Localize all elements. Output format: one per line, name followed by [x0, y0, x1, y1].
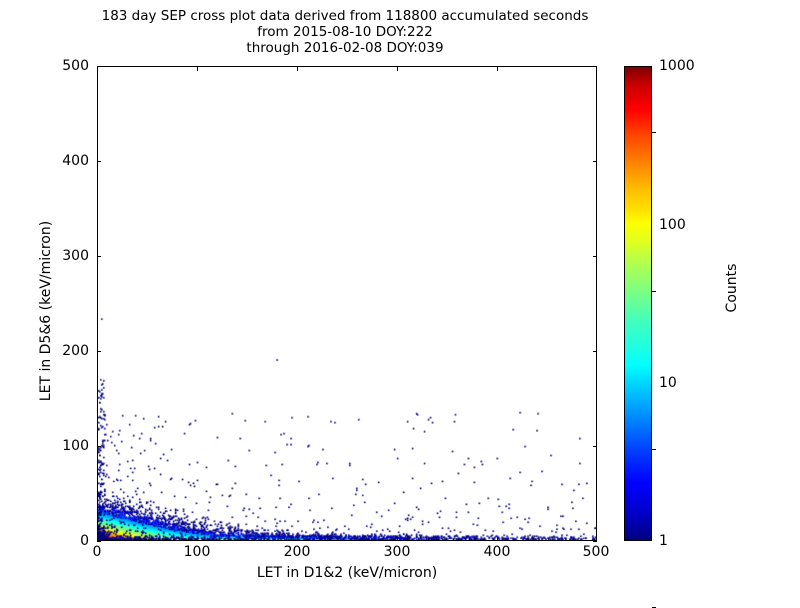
- xtick-mark-top-100: [197, 67, 198, 71]
- colorbar-tick-label-1: 1: [659, 534, 668, 548]
- colorbar-tick-mark-10: [652, 449, 656, 450]
- xtick-label-300: 300: [367, 545, 427, 559]
- xtick-mark-top-200: [297, 67, 298, 71]
- colorbar-gradient: [624, 66, 652, 541]
- colorbar-tick-mark-100: [652, 291, 656, 292]
- colorbar-tick-label-10: 10: [659, 376, 677, 390]
- colorbar-tick-label-100: 100: [659, 218, 686, 232]
- colorbar-label: Counts: [724, 208, 740, 368]
- colorbar: [624, 66, 652, 541]
- xtick-mark-top-0: [97, 67, 98, 71]
- plot-axes: [97, 66, 597, 541]
- ytick-mark-300: [97, 256, 101, 257]
- ytick-mark-right-200: [593, 351, 597, 352]
- plot-title: 183 day SEP cross plot data derived from…: [0, 8, 690, 56]
- xtick-mark-300: [397, 537, 398, 541]
- xtick-mark-500: [596, 537, 597, 541]
- xtick-mark-100: [197, 537, 198, 541]
- xtick-mark-top-400: [497, 67, 498, 71]
- title-line-1: 183 day SEP cross plot data derived from…: [0, 8, 690, 24]
- ytick-mark-right-400: [593, 161, 597, 162]
- xtick-mark-0: [97, 537, 98, 541]
- ytick-mark-0: [97, 541, 101, 542]
- ytick-label-500: 500: [33, 59, 89, 73]
- ytick-mark-right-100: [593, 446, 597, 447]
- xtick-mark-top-300: [397, 67, 398, 71]
- xtick-mark-400: [497, 537, 498, 541]
- colorbar-tick-label-1000: 1000: [659, 59, 695, 73]
- ytick-mark-right-0: [593, 541, 597, 542]
- ytick-mark-200: [97, 351, 101, 352]
- xtick-label-0: 0: [67, 545, 127, 559]
- scatter-data-layer: [98, 67, 596, 540]
- xtick-label-200: 200: [267, 545, 327, 559]
- ytick-mark-400: [97, 161, 101, 162]
- xtick-mark-top-500: [596, 67, 597, 71]
- colorbar-tick-mark-1000: [652, 132, 656, 133]
- ytick-mark-100: [97, 446, 101, 447]
- x-axis-label: LET in D1&2 (keV/micron): [97, 565, 597, 581]
- xtick-label-500: 500: [566, 545, 626, 559]
- title-line-2: from 2015-08-10 DOY:222: [0, 24, 690, 40]
- figure-canvas: 183 day SEP cross plot data derived from…: [0, 0, 800, 600]
- xtick-label-400: 400: [467, 545, 527, 559]
- ytick-mark-right-300: [593, 256, 597, 257]
- xtick-label-100: 100: [167, 545, 227, 559]
- y-axis-label: LET in D5&6 (keV/micron): [38, 161, 54, 461]
- title-line-3: through 2016-02-08 DOY:039: [0, 40, 690, 56]
- xtick-mark-200: [297, 537, 298, 541]
